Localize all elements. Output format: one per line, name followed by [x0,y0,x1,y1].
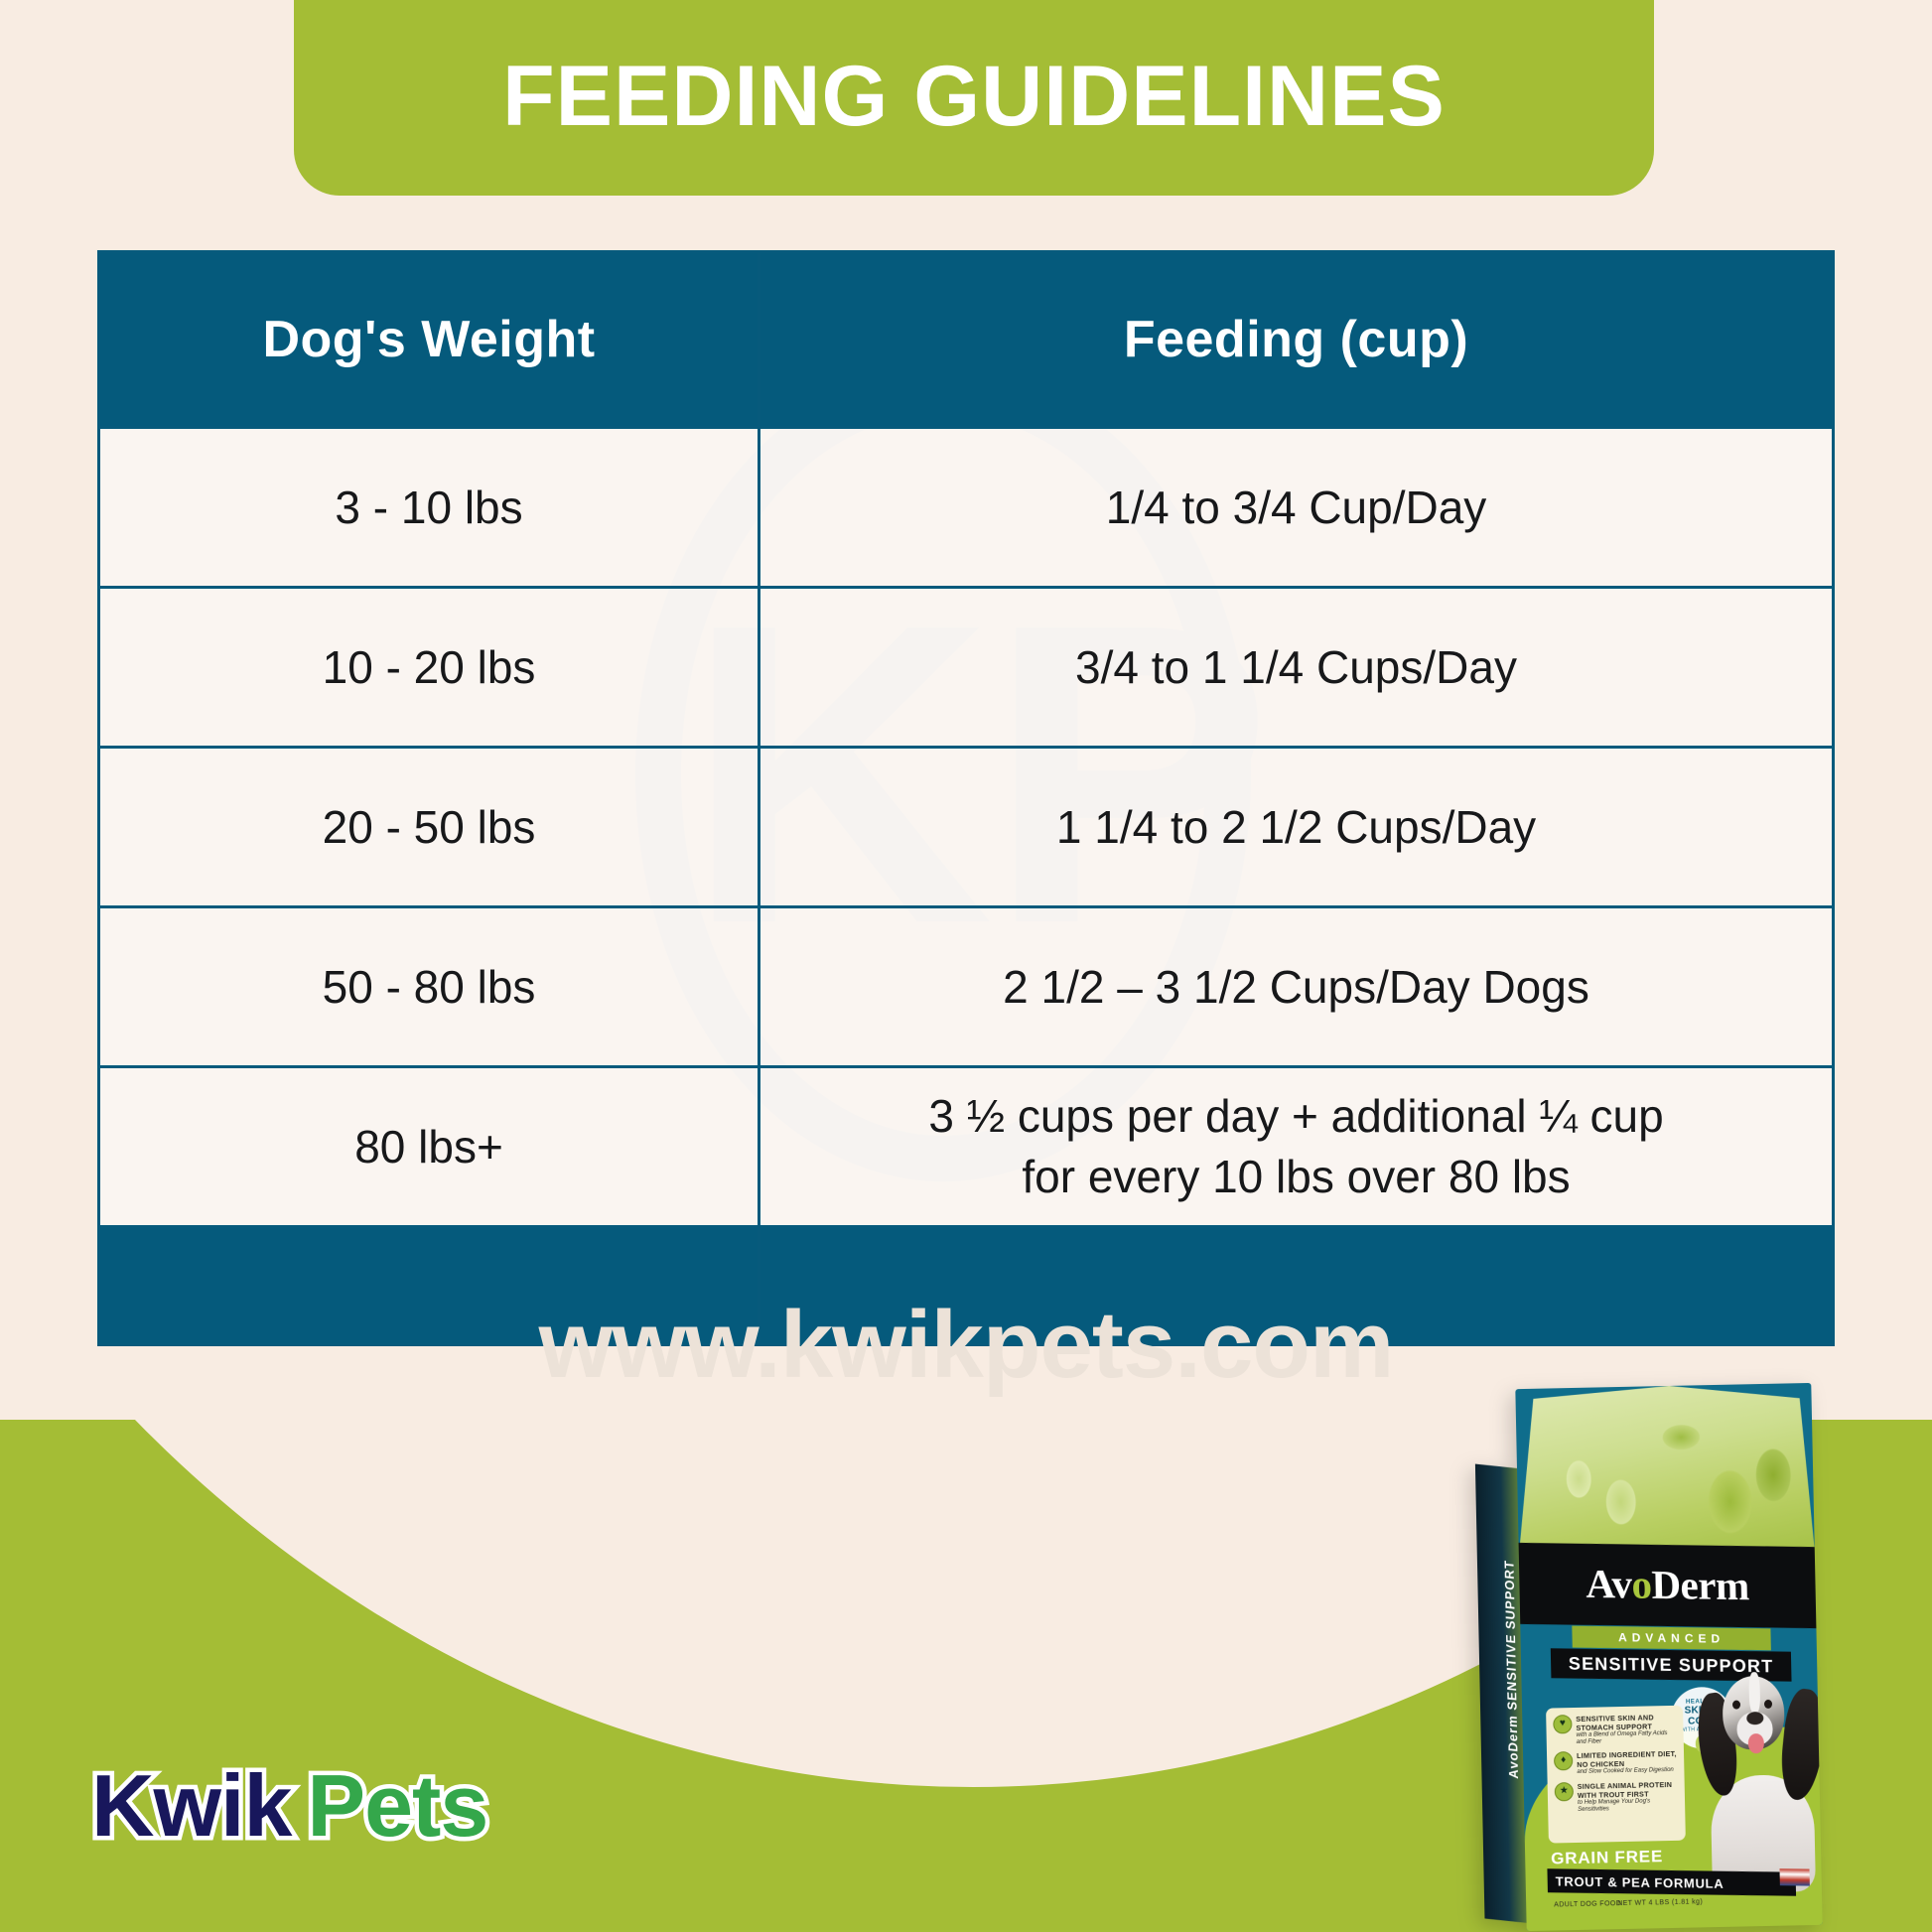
table-body: 3 - 10 lbs 1/4 to 3/4 Cup/Day 10 - 20 lb… [99,428,1834,1345]
cell-feeding: 3/4 to 1 1/4 Cups/Day [759,588,1834,748]
heart-icon: ♥ [1553,1715,1572,1733]
brand-avo: Av [1586,1561,1632,1607]
dog-eye-right [1764,1700,1772,1709]
benefit-sub: to Help Manage Your Dog's Sensitivities [1578,1797,1679,1814]
formula-label: TROUT & PEA FORMULA [1556,1873,1725,1890]
brand-o-accent: o [1631,1562,1652,1607]
table-header-row: Dog's Weight Feeding (cup) [99,252,1834,428]
cell-feeding: 2 1/2 – 3 1/2 Cups/Day Dogs [759,907,1834,1067]
cell-weight: 80 lbs+ [99,1067,759,1227]
grain-free-label: GRAIN FREE [1551,1847,1663,1868]
benefit-text: SENSITIVE SKIN AND STOMACH SUPPORT with … [1576,1713,1678,1747]
bag-brand-name: AvoDerm [1519,1559,1816,1610]
table-head: Dog's Weight Feeding (cup) [99,252,1834,428]
avocado-photo [1515,1383,1814,1556]
shield-icon: ♦ [1554,1751,1573,1770]
bag-advanced-label: ADVANCED [1572,1626,1771,1651]
cell-weight: 3 - 10 lbs [99,428,759,588]
dog-photo [1692,1663,1823,1894]
benefit-title: LIMITED INGREDIENT DIET, NO CHICKEN [1577,1749,1678,1769]
logo-word-pets: Pets [307,1756,487,1855]
header-banner: FEEDING GUIDELINES [294,0,1654,196]
cell-feeding-line2: for every 10 lbs over 80 lbs [1022,1151,1570,1202]
dog-eye-left [1732,1701,1740,1710]
kwik-pets-logo: KwikPets [91,1755,487,1857]
feeding-table-wrapper: Dog's Weight Feeding (cup) 3 - 10 lbs 1/… [97,250,1835,1346]
list-item: ♥ SENSITIVE SKIN AND STOMACH SUPPORT wit… [1553,1713,1678,1747]
feeding-table: Dog's Weight Feeding (cup) 3 - 10 lbs 1/… [97,250,1835,1346]
benefit-sub: with a Blend of Omega Fatty Acids and Fi… [1577,1730,1678,1747]
bag-front-panel: AvoDerm ADVANCED SENSITIVE SUPPORT HEALT… [1515,1383,1822,1931]
benefit-text: LIMITED INGREDIENT DIET, NO CHICKEN and … [1577,1749,1679,1776]
cell-feeding: 1/4 to 3/4 Cup/Day [759,428,1834,588]
brand-derm: Derm [1651,1562,1749,1608]
column-header-feeding-cup: Feeding (cup) [759,252,1834,428]
table-row: 10 - 20 lbs 3/4 to 1 1/4 Cups/Day [99,588,1834,748]
infographic-canvas: KP FEEDING GUIDELINES Dog's Weight Feedi… [0,0,1932,1932]
dog-ear-right [1777,1687,1822,1801]
cell-weight: 20 - 50 lbs [99,748,759,907]
table-row: 3 - 10 lbs 1/4 to 3/4 Cup/Day [99,428,1834,588]
logo-word-kwik: Kwik [91,1756,291,1855]
table-row: 50 - 80 lbs 2 1/2 – 3 1/2 Cups/Day Dogs [99,907,1834,1067]
table-row: 20 - 50 lbs 1 1/4 to 2 1/2 Cups/Day [99,748,1834,907]
page-title: FEEDING GUIDELINES [502,48,1446,146]
dog-blaze [1748,1672,1760,1714]
product-bag-image: AvoDerm SENSITIVE SUPPORT AvoDerm ADVANC… [1515,1383,1822,1931]
cell-weight: 50 - 80 lbs [99,907,759,1067]
adult-dog-food-label: ADULT DOG FOOD [1554,1900,1621,1908]
url-watermark: www.kwikpets.com [0,1291,1932,1400]
benefit-sub: and Slow Cooked for Easy Digestion [1577,1767,1678,1776]
table-row: 80 lbs+ 3 ½ cups per day + additional ¼ … [99,1067,1834,1227]
dog-tongue [1748,1733,1764,1753]
star-icon: ★ [1555,1782,1574,1801]
list-item: ♦ LIMITED INGREDIENT DIET, NO CHICKEN an… [1554,1749,1679,1777]
benefit-text: SINGLE ANIMAL PROTEIN WITH TROUT FIRST t… [1578,1779,1680,1814]
benefit-title: SINGLE ANIMAL PROTEIN WITH TROUT FIRST [1578,1779,1679,1799]
cell-feeding: 3 ½ cups per day + additional ¼ cup for … [759,1067,1834,1227]
usa-flag-icon [1779,1868,1809,1885]
bag-benefits-box: ♥ SENSITIVE SKIN AND STOMACH SUPPORT wit… [1546,1706,1686,1844]
cell-feeding-line1: 3 ½ cups per day + additional ¼ cup [928,1090,1663,1142]
cell-weight: 10 - 20 lbs [99,588,759,748]
list-item: ★ SINGLE ANIMAL PROTEIN WITH TROUT FIRST… [1555,1779,1680,1814]
benefit-title: SENSITIVE SKIN AND STOMACH SUPPORT [1576,1713,1677,1732]
cell-feeding: 1 1/4 to 2 1/2 Cups/Day [759,748,1834,907]
column-header-dogs-weight: Dog's Weight [99,252,759,428]
